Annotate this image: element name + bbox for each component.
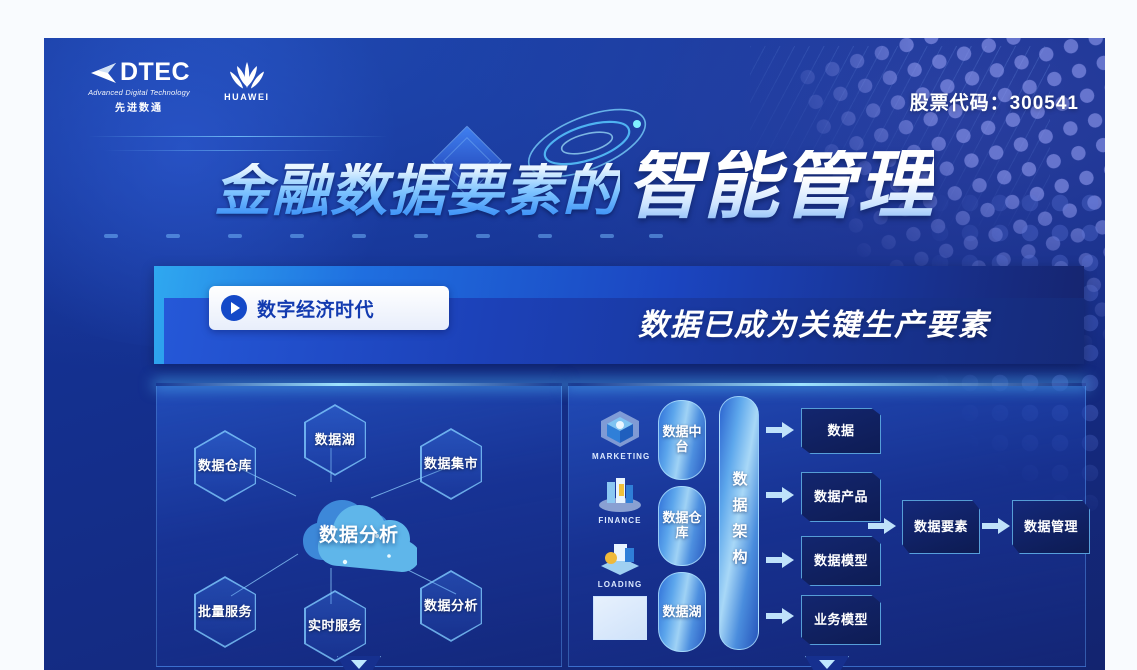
node-label: 数据仓库 [198, 459, 252, 474]
slide-canvas: DTEC Advanced Digital Technology 先进数通 HU… [44, 38, 1105, 670]
cube-icon [595, 408, 645, 450]
arrow-icon-2 [766, 485, 796, 505]
layer-label: 数据中台 [659, 425, 705, 454]
stage-data-element[interactable]: 数据要素 [902, 500, 980, 554]
node-label: 批量服务 [198, 605, 252, 620]
huawei-wordmark: HUAWEI [224, 92, 270, 102]
node-label: 数据集市 [424, 457, 478, 472]
arrow-icon-6 [982, 516, 1012, 536]
huawei-flower-icon [225, 60, 269, 90]
stage-label: 数据管理 [1024, 520, 1078, 535]
bank-icon [595, 472, 645, 514]
source-dashboard[interactable] [592, 596, 648, 642]
layer-label: 数据仓库 [659, 511, 705, 540]
source-loading[interactable]: LOADING [592, 536, 648, 589]
dtec-chinese-name: 先进数通 [88, 99, 190, 114]
layer-data-lake[interactable]: 数据湖 [658, 572, 706, 652]
output-data[interactable]: 数据 [801, 408, 881, 454]
dtec-wordmark: DTEC [120, 60, 190, 85]
layer-data-warehouse[interactable]: 数据仓库 [658, 486, 706, 566]
source-marketing[interactable]: MARKETING [592, 408, 648, 461]
arrow-icon-1 [766, 420, 796, 440]
output-label: 数据产品 [814, 490, 868, 505]
layer-label: 数据湖 [662, 605, 701, 620]
node-label: 数据湖 [315, 433, 356, 448]
dashboard-icon [593, 596, 647, 640]
page-title: 金融数据要素的 智能管理 [214, 150, 934, 222]
stock-code: 股票代码：300541 [910, 88, 1079, 115]
section-banner: 数字经济时代 数据已成为关键生产要素 [154, 266, 1084, 364]
center-cloud[interactable]: 数据分析 [293, 482, 417, 586]
title-part-emphasis: 智能管理 [626, 150, 934, 222]
source-finance[interactable]: FINANCE [592, 472, 648, 525]
section-badge[interactable]: 数字经济时代 [209, 286, 449, 330]
loading-icon [595, 536, 645, 578]
output-label: 数据模型 [814, 554, 868, 569]
source-caption: MARKETING [592, 452, 648, 461]
layer-data-midplatform[interactable]: 数据中台 [658, 400, 706, 480]
source-caption: LOADING [592, 580, 648, 589]
section-headline: 数据已成为关键生产要素 [544, 300, 1084, 344]
center-cloud-label: 数据分析 [319, 526, 399, 546]
output-data-model[interactable]: 数据模型 [801, 536, 881, 586]
architecture-column[interactable]: 数据架构 [719, 396, 759, 650]
section-badge-label: 数字经济时代 [257, 295, 374, 322]
header-divider-line [88, 136, 388, 137]
title-part-primary: 金融数据要素的 [214, 163, 620, 222]
dtec-mark-icon [88, 62, 118, 84]
dtec-tagline: Advanced Digital Technology [88, 88, 190, 97]
arrow-icon-4 [766, 606, 796, 626]
output-data-product[interactable]: 数据产品 [801, 472, 881, 522]
tick-marks-row [104, 234, 664, 244]
panel-chevron-marker [805, 656, 849, 670]
output-label: 业务模型 [814, 613, 868, 628]
node-label: 数据分析 [424, 599, 478, 614]
node-label: 实时服务 [308, 619, 362, 634]
stage-label: 数据要素 [914, 520, 968, 535]
arrow-icon-3 [766, 550, 796, 570]
stage-data-management[interactable]: 数据管理 [1012, 500, 1090, 554]
architecture-label: 数据架构 [729, 471, 750, 575]
source-caption: FINANCE [592, 516, 648, 525]
play-icon [221, 295, 247, 321]
arrow-icon-5 [868, 516, 898, 536]
output-business-model[interactable]: 业务模型 [801, 595, 881, 645]
logo-group: DTEC Advanced Digital Technology 先进数通 HU… [88, 60, 270, 114]
output-label: 数据 [827, 424, 854, 439]
dtec-logo[interactable]: DTEC Advanced Digital Technology 先进数通 [88, 60, 190, 114]
huawei-logo[interactable]: HUAWEI [224, 60, 270, 102]
